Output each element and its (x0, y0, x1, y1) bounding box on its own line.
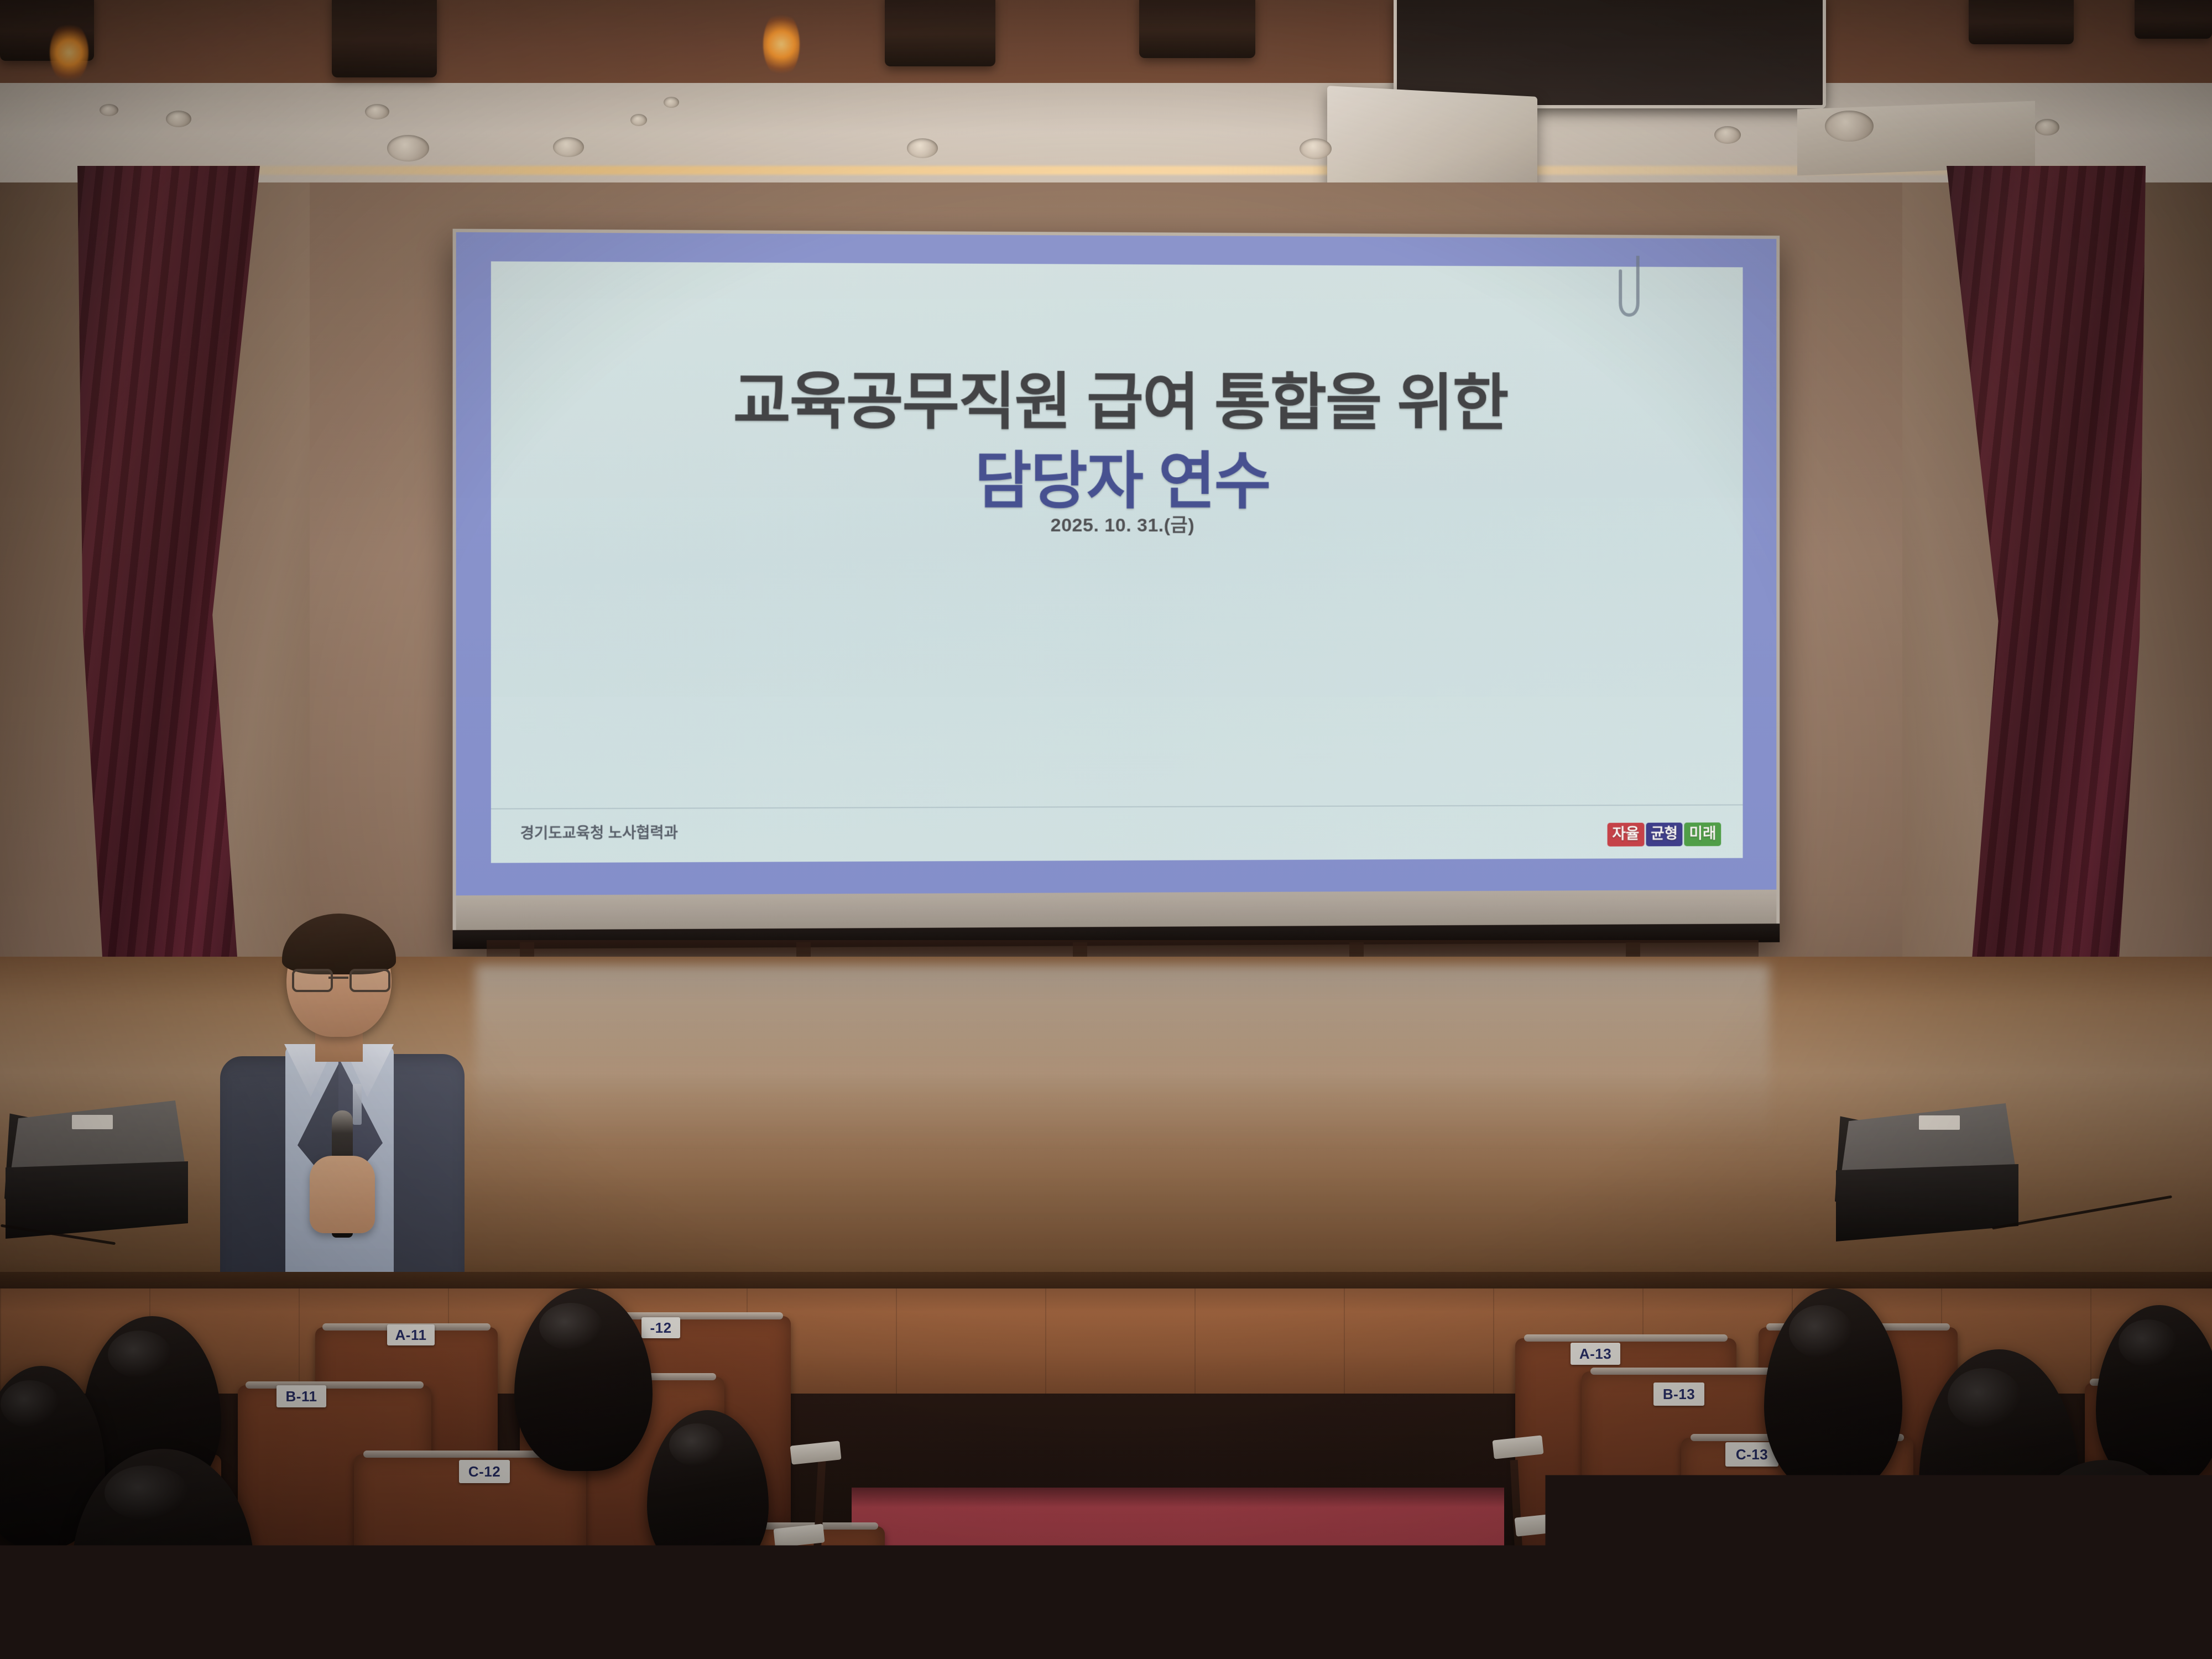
downlight-icon (1825, 111, 1874, 142)
center-aisle-carpet (852, 1488, 1504, 1659)
logo-chip-balance: 균형 (1646, 823, 1683, 847)
seat-label: B-11 (276, 1385, 326, 1407)
audience-shoulders (33, 1587, 288, 1659)
downlight-icon (1300, 138, 1332, 159)
downlight-icon (630, 114, 647, 126)
seat-label: D-12 (320, 1564, 373, 1588)
logo-chip-autonomy: 자율 (1608, 823, 1645, 847)
logo-chip-future: 미래 (1684, 822, 1721, 846)
downlight-icon (2035, 119, 2059, 135)
warm-ceiling-lamp (50, 22, 88, 83)
downlight-icon (387, 135, 429, 161)
ceiling-banner (885, 0, 995, 66)
hair-highlight (669, 1423, 725, 1467)
monitor-label (72, 1115, 113, 1129)
hair-highlight (1948, 1368, 2021, 1428)
presentation-slide: 교육공무직원 급여 통합을 위한 담당자 연수 2025. 10. 31.(금)… (456, 232, 1777, 896)
projection-screen: 교육공무직원 급여 통합을 위한 담당자 연수 2025. 10. 31.(금)… (453, 229, 1780, 950)
glasses-lens-right (349, 969, 390, 992)
hair-highlight (706, 1557, 773, 1586)
seat-label: B-13 (1653, 1383, 1704, 1406)
downlight-icon (553, 137, 584, 157)
auditorium-photo: 교육공무직원 급여 통합을 위한 담당자 연수 2025. 10. 31.(금)… (0, 0, 2212, 1659)
seat-label: A-13 (1571, 1343, 1620, 1365)
ceiling-banner (332, 0, 437, 77)
seat-label: C-12 (459, 1460, 510, 1483)
monitor-grille (1836, 1164, 2018, 1241)
ceiling-duct (1797, 101, 2035, 175)
glasses-bridge (328, 977, 348, 979)
presenter-hands (310, 1156, 375, 1233)
slide-divider (491, 804, 1743, 809)
hair-highlight (105, 1465, 189, 1520)
monitor-label (1919, 1115, 1960, 1130)
stage-monitor-right (1836, 1103, 2018, 1230)
glasses-icon (292, 969, 386, 988)
downlight-icon (907, 138, 938, 158)
presenter-lanyard (353, 1084, 362, 1125)
warm-ceiling-lamp (763, 11, 800, 77)
stage-monitor-left (6, 1100, 188, 1228)
ceiling-banner (2135, 0, 2212, 39)
ceiling-banner (1139, 0, 1255, 58)
monitor-grille (6, 1161, 188, 1239)
downlight-icon (166, 111, 191, 127)
hair-highlight (1789, 1305, 1853, 1358)
slide-date: 2025. 10. 31.(금) (491, 509, 1743, 538)
downlight-icon (365, 104, 389, 119)
seat-label: -12 (641, 1317, 680, 1338)
presenter-hair (282, 914, 396, 974)
hair-highlight (539, 1303, 603, 1350)
hair-highlight (2119, 1319, 2177, 1367)
slide-logo: 자율 균형 미래 (1608, 822, 1721, 846)
ceiling-banner (1969, 0, 2074, 44)
slide-title: 교육공무직원 급여 통합을 위한 담당자 연수 (491, 361, 1743, 522)
aisle-shadow (852, 1488, 1504, 1507)
downlight-icon (664, 97, 679, 108)
hair-highlight (2046, 1476, 2130, 1528)
slide-title-line1: 교육공무직원 급여 통합을 위한 (491, 361, 1743, 444)
hair-highlight (1, 1380, 59, 1428)
downlight-icon (1714, 126, 1741, 144)
seat-label: A-11 (387, 1324, 435, 1345)
audience-shoulders (1969, 1604, 2212, 1659)
downlight-icon (100, 104, 118, 116)
slide-footer-organization: 경기도교육청 노사협력과 (520, 821, 678, 843)
hair-highlight (108, 1331, 171, 1378)
paperclip-icon (1616, 255, 1641, 320)
glasses-lens-left (292, 969, 333, 992)
slide-content-panel: 교육공무직원 급여 통합을 위한 담당자 연수 2025. 10. 31.(금)… (491, 262, 1743, 863)
